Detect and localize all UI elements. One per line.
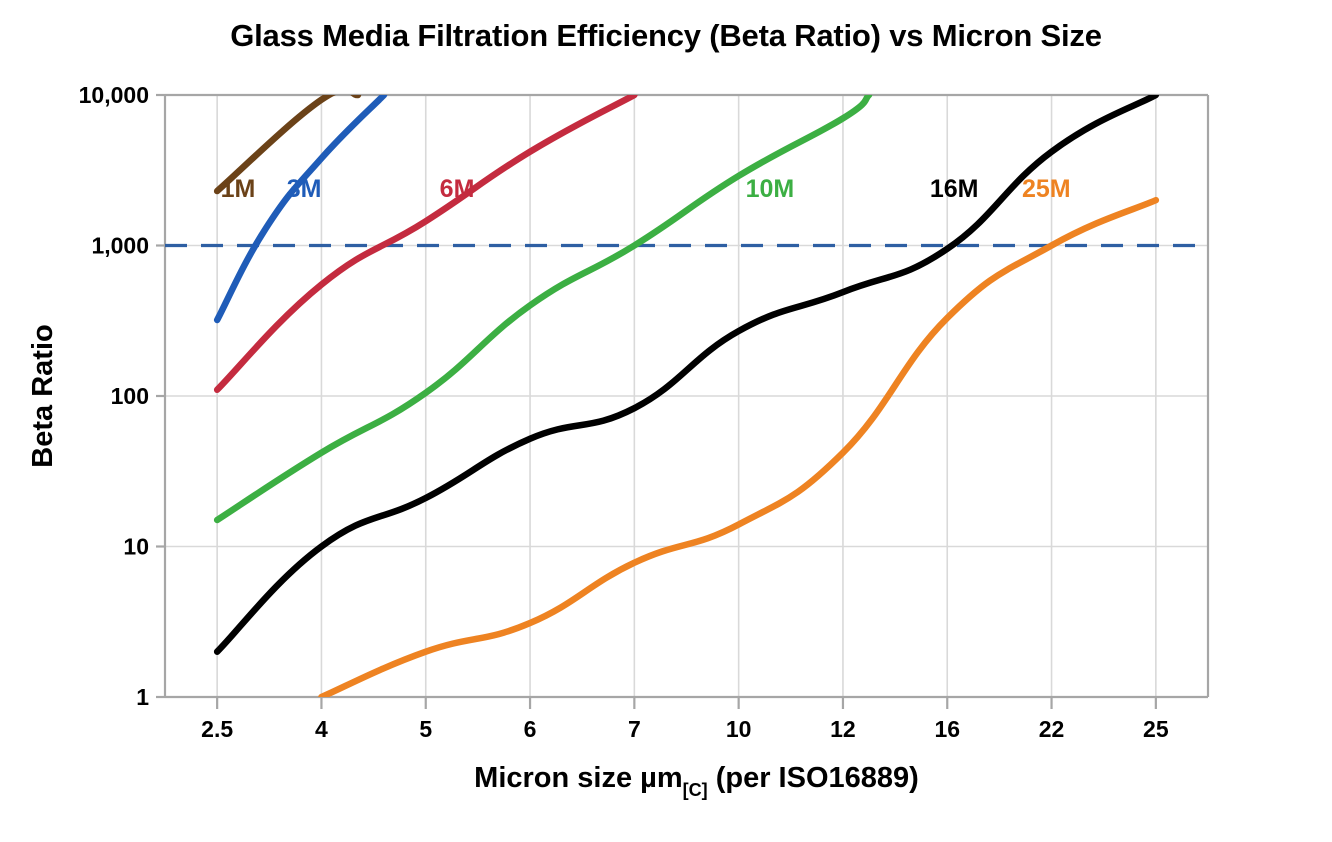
- series-label-10m: 10M: [746, 175, 795, 203]
- x-axis-tick-label: 22: [1039, 716, 1065, 742]
- x-axis-tick-label: 4: [315, 716, 328, 742]
- x-axis-title-subscript: [C]: [683, 780, 708, 800]
- x-axis-tick-label: 2.5: [201, 716, 233, 742]
- series-label-3m: 3M: [287, 175, 322, 203]
- series-label-1m: 1M: [221, 175, 256, 203]
- series-clip-group: [217, 89, 1156, 697]
- series-label-16m: 16M: [930, 175, 979, 203]
- y-axis-tick-label: 1: [136, 684, 149, 710]
- series-line-3m[interactable]: [217, 95, 384, 320]
- chart-plot: 1101001,00010,0002.545671012162225 1M3M6…: [0, 0, 1332, 842]
- x-axis-tick-label: 25: [1143, 716, 1169, 742]
- x-axis-tick-label: 16: [934, 716, 960, 742]
- series-labels-layer: 1M3M6M10M16M25M: [221, 175, 1071, 203]
- y-axis-title: Beta Ratio: [27, 324, 59, 467]
- x-axis-tick-label: 5: [419, 716, 432, 742]
- x-axis-tick-label: 12: [830, 716, 856, 742]
- y-axis-tick-label: 10,000: [79, 82, 149, 108]
- x-axis-tick-label: 7: [628, 716, 641, 742]
- series-label-25m: 25M: [1022, 175, 1071, 203]
- chart-container: Glass Media Filtration Efficiency (Beta …: [0, 0, 1332, 842]
- series-line-10m[interactable]: [217, 95, 869, 520]
- y-axis-tick-label: 1,000: [91, 233, 149, 259]
- series-layer: [217, 89, 1156, 697]
- series-label-6m: 6M: [440, 175, 475, 203]
- y-axis-tick-label: 10: [123, 534, 149, 560]
- series-line-16m[interactable]: [217, 95, 1156, 652]
- x-axis-title-suffix: (per ISO16889): [708, 762, 919, 794]
- y-axis-tick-label: 100: [111, 383, 149, 409]
- x-axis-title: Micron size µm[C] (per ISO16889): [474, 762, 919, 800]
- x-axis-title-main: Micron size µm: [474, 762, 682, 794]
- x-axis-tick-label: 10: [726, 716, 752, 742]
- x-axis-tick-label: 6: [524, 716, 537, 742]
